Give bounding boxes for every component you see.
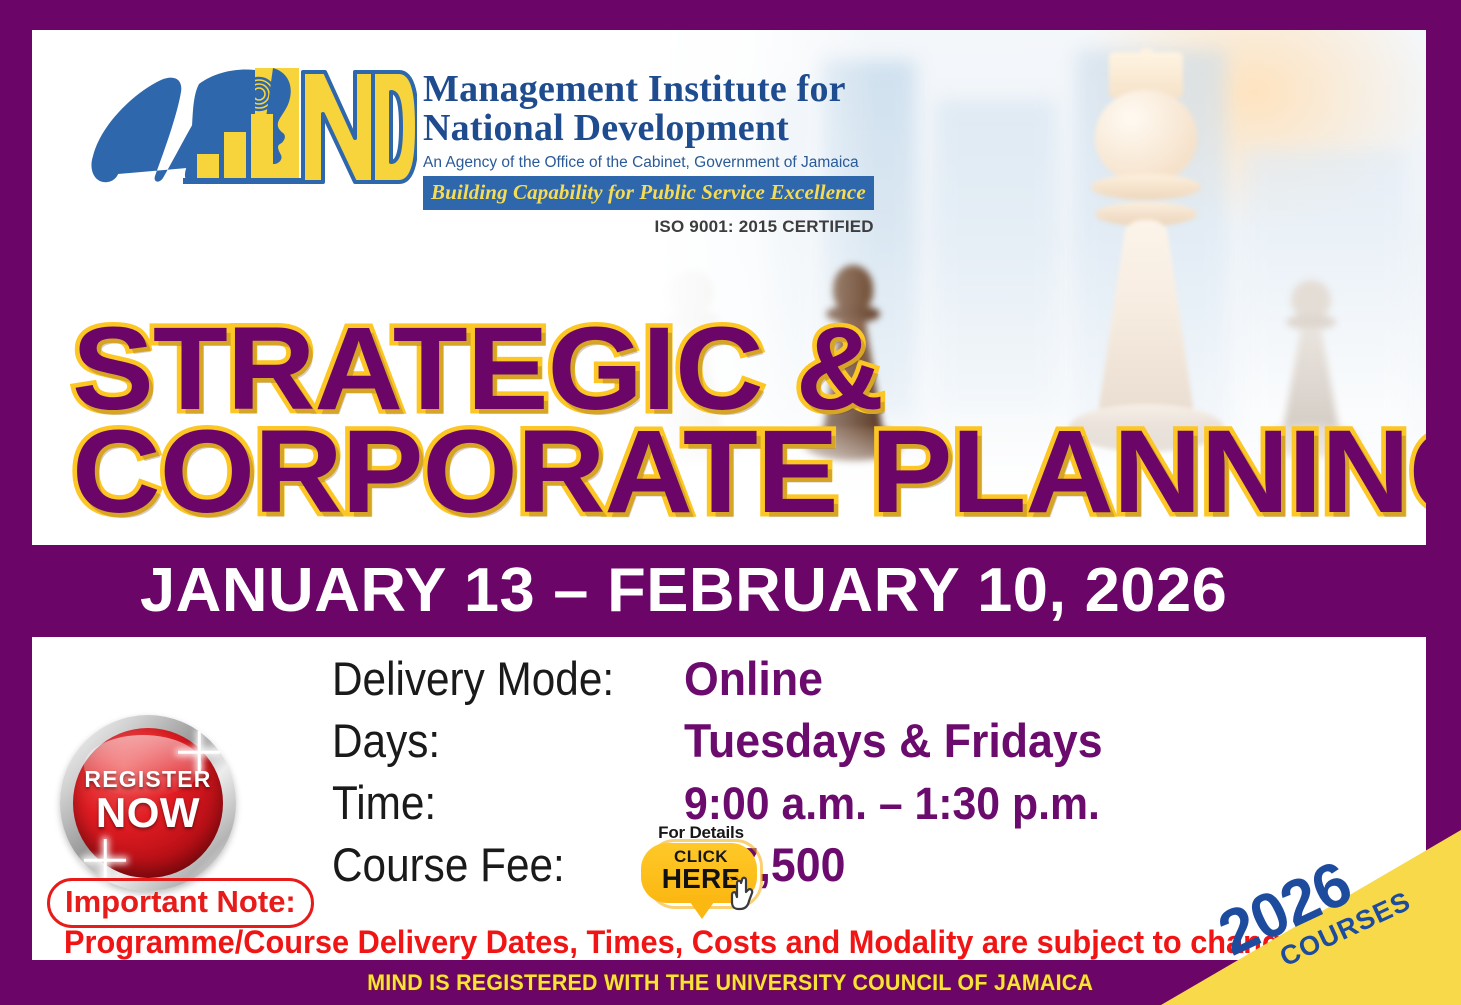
course-flyer: Management Institute for National Develo…: [0, 0, 1461, 1005]
table-row: Days: Tuesdays & Fridays: [332, 713, 1125, 775]
register-button-line2: NOW: [60, 792, 236, 834]
hero-section: Management Institute for National Develo…: [32, 30, 1426, 545]
tagline-banner: Building Capability for Public Service E…: [423, 176, 874, 210]
table-row: Delivery Mode: Online: [332, 651, 1125, 713]
days-label: Days:: [332, 713, 649, 768]
course-dates-band: JANUARY 13 – FEBRUARY 10, 2026: [0, 551, 1461, 629]
mind-logo: Management Institute for National Develo…: [87, 58, 874, 237]
click-here-button[interactable]: For Details CLICK HERE: [637, 823, 765, 921]
bubble-tail: [685, 895, 719, 919]
agency-line: An Agency of the Office of the Cabinet, …: [423, 153, 874, 173]
footer-text: MIND IS REGISTERED WITH THE UNIVERSITY C…: [367, 970, 1093, 996]
course-title: STRATEGIC & CORPORATE PLANNING: [72, 318, 1372, 524]
course-dates-text: JANUARY 13 – FEBRUARY 10, 2026: [140, 555, 1227, 626]
hand-pointer-icon: [729, 875, 763, 913]
important-note-label: Important Note:: [65, 884, 296, 919]
click-here-top-label: For Details: [637, 823, 765, 843]
mind-logo-icon: [87, 58, 417, 223]
delivery-mode-label: Delivery Mode:: [332, 651, 649, 706]
course-title-line2: CORPORATE PLANNING: [72, 421, 1424, 524]
institute-name-line2: National Development: [423, 109, 874, 148]
year-courses-badge: 2026 COURSES: [1161, 830, 1461, 1005]
important-note-text: Programme/Course Delivery Dates, Times, …: [64, 924, 1306, 960]
institute-name-line1: Management Institute for: [423, 70, 874, 109]
important-note-badge: Important Note:: [47, 878, 314, 928]
course-fee-label: Course Fee:: [332, 837, 649, 892]
delivery-mode-value: Online: [684, 651, 823, 706]
tagline-text: Building Capability for Public Service E…: [431, 180, 866, 204]
time-label: Time:: [332, 775, 649, 830]
days-value: Tuesdays & Fridays: [684, 713, 1103, 768]
iso-certification: ISO 9001: 2015 CERTIFIED: [423, 217, 874, 237]
register-now-button[interactable]: REGISTER NOW: [60, 715, 236, 891]
